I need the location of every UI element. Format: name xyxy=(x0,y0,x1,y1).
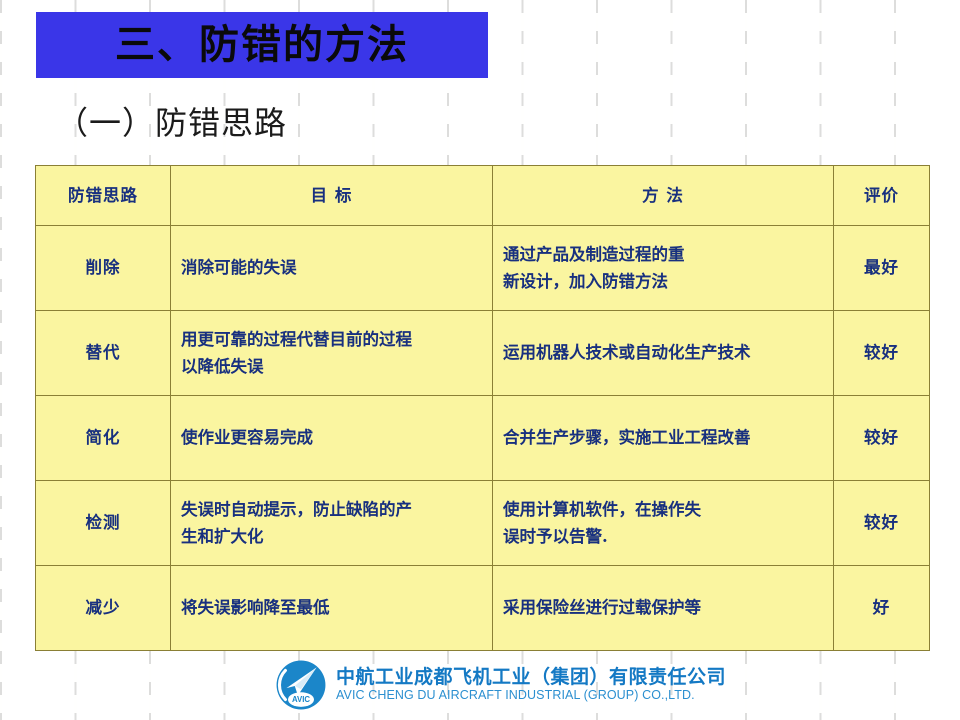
company-footer: AVIC 中航工业成都飞机工业（集团）有限责任公司 AVIC CHENG DU … xyxy=(275,659,726,711)
cell-idea: 减少 xyxy=(36,566,171,651)
table-body: 削除 消除可能的失误 通过产品及制造过程的重 新设计，加入防错方法 最好 替代 … xyxy=(36,226,930,651)
cell-goal-line: 使作业更容易完成 xyxy=(181,424,482,451)
table-header-row: 防错思路 目 标 方 法 评价 xyxy=(36,166,930,226)
cell-goal-line: 消除可能的失误 xyxy=(181,254,482,281)
cell-rating: 好 xyxy=(834,566,930,651)
table-row: 替代 用更可靠的过程代替目前的过程 以降低失误 运用机器人技术或自动化生产技术 … xyxy=(36,311,930,396)
cell-idea: 削除 xyxy=(36,226,171,311)
cell-method-line: 新设计，加入防错方法 xyxy=(503,268,823,295)
column-header-idea: 防错思路 xyxy=(36,166,171,226)
cell-goal-line: 失误时自动提示，防止缺陷的产 xyxy=(181,496,482,523)
column-header-method: 方 法 xyxy=(493,166,834,226)
cell-goal: 用更可靠的过程代替目前的过程 以降低失误 xyxy=(171,311,493,396)
footer-company-text: 中航工业成都飞机工业（集团）有限责任公司 AVIC CHENG DU AIRCR… xyxy=(336,666,726,704)
cell-method-line: 运用机器人技术或自动化生产技术 xyxy=(503,339,823,366)
cell-method: 通过产品及制造过程的重 新设计，加入防错方法 xyxy=(493,226,834,311)
cell-goal: 使作业更容易完成 xyxy=(171,396,493,481)
table-row: 削除 消除可能的失误 通过产品及制造过程的重 新设计，加入防错方法 最好 xyxy=(36,226,930,311)
cell-rating: 最好 xyxy=(834,226,930,311)
cell-method-line: 合并生产步骤，实施工业工程改善 xyxy=(503,424,823,451)
table-header: 防错思路 目 标 方 法 评价 xyxy=(36,166,930,226)
cell-method: 采用保险丝进行过载保护等 xyxy=(493,566,834,651)
table-row: 检测 失误时自动提示，防止缺陷的产 生和扩大化 使用计算机软件，在操作失 误时予… xyxy=(36,481,930,566)
table-row: 简化 使作业更容易完成 合并生产步骤，实施工业工程改善 较好 xyxy=(36,396,930,481)
section-title-banner: 三、防错的方法 xyxy=(36,12,488,78)
cell-goal-line: 以降低失误 xyxy=(181,353,482,380)
cell-idea: 简化 xyxy=(36,396,171,481)
cell-goal: 消除可能的失误 xyxy=(171,226,493,311)
column-header-goal: 目 标 xyxy=(171,166,493,226)
column-header-rating: 评价 xyxy=(834,166,930,226)
cell-goal: 失误时自动提示，防止缺陷的产 生和扩大化 xyxy=(171,481,493,566)
cell-method-line: 使用计算机软件，在操作失 xyxy=(503,496,823,523)
cell-method-line: 误时予以告警. xyxy=(503,523,823,550)
section-subtitle: （一）防错思路 xyxy=(56,98,287,144)
cell-method: 运用机器人技术或自动化生产技术 xyxy=(493,311,834,396)
avic-logo-mark-text: AVIC xyxy=(292,695,310,704)
error-proofing-methods-table: 防错思路 目 标 方 法 评价 削除 消除可能的失误 通过产品及制造过程的重 新… xyxy=(35,165,930,651)
cell-rating: 较好 xyxy=(834,311,930,396)
cell-method: 使用计算机软件，在操作失 误时予以告警. xyxy=(493,481,834,566)
cell-idea: 替代 xyxy=(36,311,171,396)
cell-goal: 将失误影响降至最低 xyxy=(171,566,493,651)
cell-method: 合并生产步骤，实施工业工程改善 xyxy=(493,396,834,481)
cell-method-line: 通过产品及制造过程的重 xyxy=(503,241,823,268)
company-name-en: AVIC CHENG DU AIRCRAFT INDUSTRIAL (GROUP… xyxy=(336,688,726,704)
cell-goal-line: 将失误影响降至最低 xyxy=(181,594,482,621)
cell-method-line: 采用保险丝进行过载保护等 xyxy=(503,594,823,621)
cell-idea: 检测 xyxy=(36,481,171,566)
avic-logo-icon: AVIC xyxy=(275,659,327,711)
cell-goal-line: 用更可靠的过程代替目前的过程 xyxy=(181,326,482,353)
cell-goal-line: 生和扩大化 xyxy=(181,523,482,550)
table-row: 减少 将失误影响降至最低 采用保险丝进行过载保护等 好 xyxy=(36,566,930,651)
cell-rating: 较好 xyxy=(834,481,930,566)
slide-canvas: 三、防错的方法 （一）防错思路 防错思路 目 标 方 法 评价 削除 消除可能的… xyxy=(0,0,960,720)
cell-rating: 较好 xyxy=(834,396,930,481)
company-name-cn: 中航工业成都飞机工业（集团）有限责任公司 xyxy=(336,666,726,688)
page-title: 三、防错的方法 xyxy=(115,25,409,65)
